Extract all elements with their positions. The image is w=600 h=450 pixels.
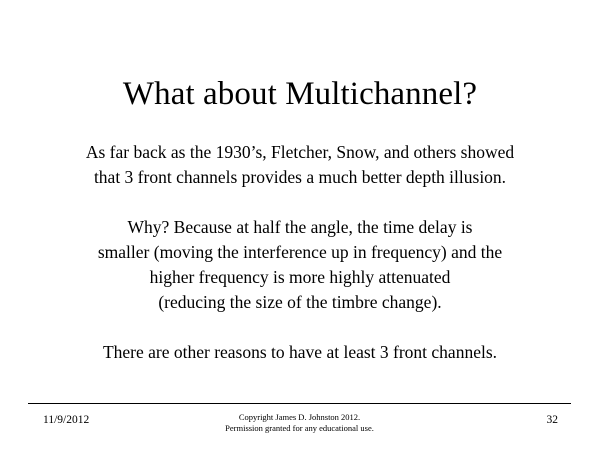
footer-page-number: 32 (547, 414, 559, 427)
slide-body: As far back as the 1930’s, Fletcher, Sno… (26, 140, 574, 365)
body-paragraph-intro: As far back as the 1930’s, Fletcher, Sno… (26, 140, 574, 190)
body-paragraph-conclusion: There are other reasons to have at least… (26, 340, 574, 365)
footer-divider (28, 403, 571, 404)
slide-footer: 11/9/2012 Copyright James D. Johnston 20… (28, 410, 571, 440)
page-title: What about Multichannel? (0, 74, 600, 114)
body-paragraph-explanation: Why? Because at half the angle, the time… (26, 215, 574, 315)
presentation-slide: What about Multichannel? As far back as … (0, 0, 600, 450)
paragraph-spacer (26, 315, 574, 340)
footer-copyright-notice: Copyright James D. Johnston 2012. Permis… (28, 412, 571, 433)
paragraph-spacer (26, 190, 574, 215)
